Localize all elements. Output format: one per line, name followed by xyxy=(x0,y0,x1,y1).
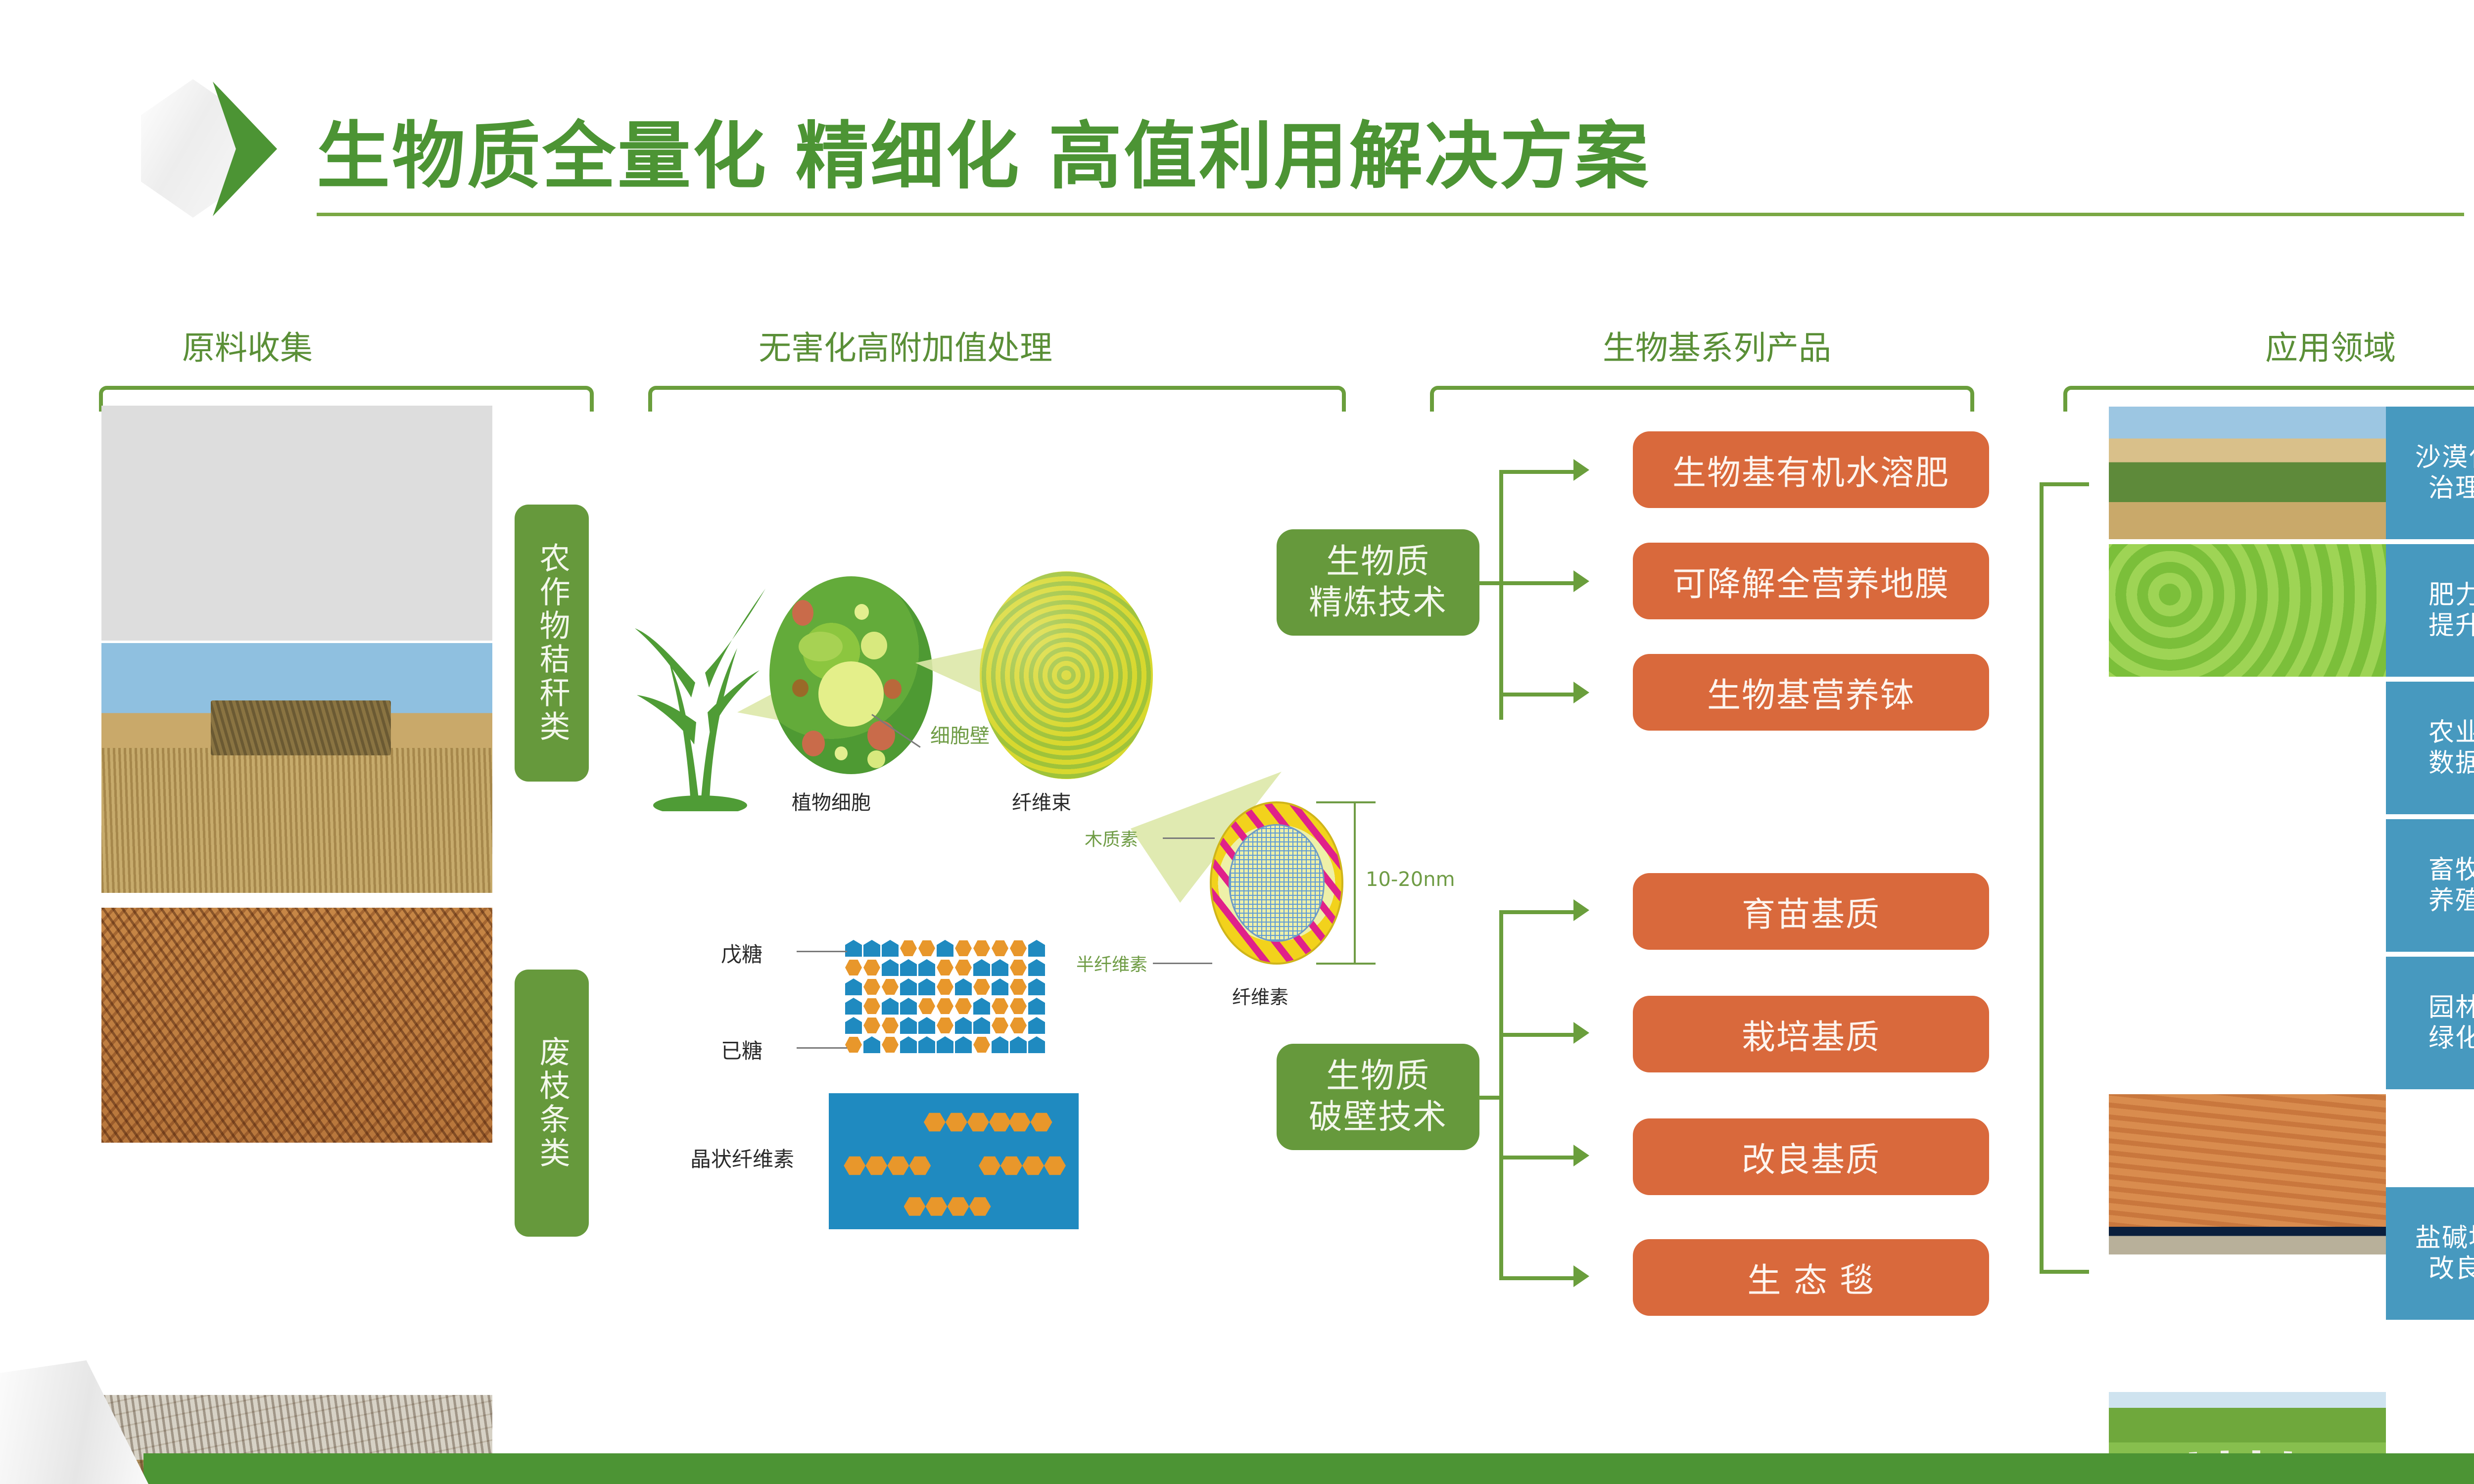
section-label-bio-products: 生物基系列产品 xyxy=(1420,322,2014,369)
connector-branch-wb-1 xyxy=(1499,910,1573,914)
bracket-bio-products xyxy=(1430,386,1974,412)
section-label-raw-material: 原料收集 xyxy=(94,322,401,369)
technology-wall-breaking-line2: 破壁技术 xyxy=(1309,1097,1447,1138)
label-hexose: 已糖 xyxy=(721,1034,762,1065)
applications-bracket-bottom xyxy=(2040,1270,2089,1274)
hexose-leader-line xyxy=(797,1047,847,1049)
application-label-line2: 提升 xyxy=(2428,610,2474,641)
dimension-vertical-line xyxy=(1354,801,1356,965)
connector-branch-refining-3 xyxy=(1499,693,1573,696)
application-landscape-greening[interactable]: 园林绿化 xyxy=(2386,957,2474,1089)
application-label-line2: 数据 xyxy=(2428,748,2474,779)
application-label-line1: 园林 xyxy=(2428,992,2474,1023)
product-cultivation-substrate[interactable]: 栽培基质 xyxy=(1633,996,1989,1072)
application-label-line2: 治理 xyxy=(2415,473,2474,504)
applications-bracket-top xyxy=(2040,482,2089,486)
label-pentose: 戊糖 xyxy=(721,938,762,968)
bracket-processing xyxy=(648,386,1346,412)
application-label-line1: 肥力 xyxy=(2428,580,2474,610)
product-degradable-nutrient-mulch-film[interactable]: 可降解全营养地膜 xyxy=(1633,543,1989,619)
product-label: 育苗基质 xyxy=(1742,887,1880,936)
arrowhead-refining-1 xyxy=(1573,459,1589,481)
connector-trunk-wall-breaking xyxy=(1499,910,1503,1276)
connector-branch-wb-2 xyxy=(1499,1033,1573,1037)
plant-cell-illustration xyxy=(769,576,933,774)
connector-from-refining-tech xyxy=(1478,581,1502,585)
product-seedling-substrate[interactable]: 育苗基质 xyxy=(1633,873,1989,950)
connector-from-wall-breaking-tech xyxy=(1478,1096,1502,1100)
raw-category-waste-branch-label: 废枝条类 xyxy=(535,1036,569,1170)
crystalline-cellulose-diagram xyxy=(829,1093,1079,1229)
applications-bracket-spine xyxy=(2040,482,2044,1274)
application-desert-control[interactable]: 沙漠化治理 xyxy=(2386,407,2474,539)
technology-wall-breaking[interactable]: 生物质 破壁技术 xyxy=(1277,1044,1479,1150)
label-cellulose: 纤维素 xyxy=(1232,982,1288,1009)
product-label: 生物基有机水溶肥 xyxy=(1672,445,1950,494)
label-cell-wall: 细胞壁 xyxy=(930,720,990,748)
arrowhead-wb-3 xyxy=(1573,1145,1589,1166)
section-label-processing: 无害化高附加值处理 xyxy=(579,322,1232,369)
pentose-leader-line xyxy=(797,951,847,952)
technology-refining-line1: 生物质 xyxy=(1309,542,1447,583)
section-label-applications: 应用领域 xyxy=(2068,322,2474,369)
sugar-chain-diagram xyxy=(845,940,1045,1056)
application-agricultural-data[interactable]: 农业数据 xyxy=(2386,682,2474,814)
application-label-line2: 改良 xyxy=(2415,1253,2474,1284)
connector-branch-wb-4 xyxy=(1499,1276,1573,1280)
product-ecological-blanket[interactable]: 生 态 毯 xyxy=(1633,1239,1989,1316)
page-title: 生物质全量化 精细化 高值利用解决方案 xyxy=(317,96,1650,203)
cellulose-nanofiber-illustration xyxy=(1210,801,1343,965)
fiber-bundle-illustration xyxy=(980,571,1153,779)
infographic-canvas: 生物质全量化 精细化 高值利用解决方案 原料收集 无害化高附加值处理 生物基系列… xyxy=(0,0,2474,1484)
arrowhead-refining-2 xyxy=(1573,570,1589,592)
technology-wall-breaking-line1: 生物质 xyxy=(1309,1056,1447,1097)
photo-desert-restoration xyxy=(2109,407,2386,539)
product-bio-nutrient-pot[interactable]: 生物基营养钵 xyxy=(1633,654,1989,731)
photo-pruned-branches xyxy=(101,908,492,1143)
photo-corn-straw-field xyxy=(101,406,492,641)
connector-trunk-refining xyxy=(1499,470,1503,720)
product-label: 栽培基质 xyxy=(1742,1010,1880,1059)
application-label-line1: 畜牧 xyxy=(2428,855,2474,885)
connector-branch-refining-1 xyxy=(1499,470,1573,474)
label-dimension: 10-20nm xyxy=(1366,868,1455,891)
title-underline-rule xyxy=(317,213,2464,216)
label-fiber-bundle: 纤维束 xyxy=(1012,787,1071,815)
arrowhead-wb-4 xyxy=(1573,1265,1589,1287)
photo-baled-straw-field xyxy=(101,643,492,893)
connector-branch-wb-3 xyxy=(1499,1156,1573,1159)
lignin-leader-line xyxy=(1163,837,1215,839)
label-lignin: 木质素 xyxy=(1085,825,1138,851)
application-label-line2: 养殖 xyxy=(2428,885,2474,916)
application-label-line1: 沙漠化 xyxy=(2415,442,2474,473)
product-improvement-substrate[interactable]: 改良基质 xyxy=(1633,1118,1989,1195)
application-livestock-breeding[interactable]: 畜牧养殖 xyxy=(2386,819,2474,952)
raw-category-crop-straw-label: 农作物秸秆类 xyxy=(535,542,569,744)
raw-category-crop-straw[interactable]: 农作物秸秆类 xyxy=(515,505,589,782)
photo-saline-alkali-land xyxy=(2109,1094,2386,1227)
product-bio-water-soluble-fertilizer[interactable]: 生物基有机水溶肥 xyxy=(1633,431,1989,508)
dimension-tick-top xyxy=(1316,801,1376,803)
label-plant-cell: 植物细胞 xyxy=(792,787,871,815)
label-hemicellulose: 半纤维素 xyxy=(1076,950,1147,976)
arrowhead-wb-2 xyxy=(1573,1022,1589,1044)
application-saline-alkali-improvement[interactable]: 盐碱地改良 xyxy=(2386,1187,2474,1320)
hemicellulose-leader-line xyxy=(1153,963,1212,964)
technology-refining[interactable]: 生物质 精炼技术 xyxy=(1277,529,1479,636)
product-label: 生物基营养钵 xyxy=(1707,668,1915,717)
photo-cabbage-field xyxy=(2109,544,2386,677)
connector-branch-refining-2 xyxy=(1499,581,1573,585)
label-crystalline-cellulose: 晶状纤维素 xyxy=(690,1143,794,1173)
product-label: 可降解全营养地膜 xyxy=(1672,556,1950,605)
arrowhead-refining-3 xyxy=(1573,682,1589,703)
dimension-tick-bottom xyxy=(1316,963,1376,965)
product-label: 改良基质 xyxy=(1742,1132,1880,1181)
raw-category-waste-branch[interactable]: 废枝条类 xyxy=(515,970,589,1237)
bottom-accent-bar xyxy=(143,1453,2474,1484)
cellulose-core xyxy=(1229,824,1325,942)
product-label: 生 态 毯 xyxy=(1747,1253,1874,1302)
application-label-line1: 盐碱地 xyxy=(2415,1223,2474,1253)
technology-refining-line2: 精炼技术 xyxy=(1309,583,1447,624)
application-label-line1: 农业 xyxy=(2428,717,2474,748)
application-fertility-improvement[interactable]: 肥力提升 xyxy=(2386,544,2474,677)
application-label-line2: 绿化 xyxy=(2428,1023,2474,1054)
arrowhead-wb-1 xyxy=(1573,899,1589,921)
